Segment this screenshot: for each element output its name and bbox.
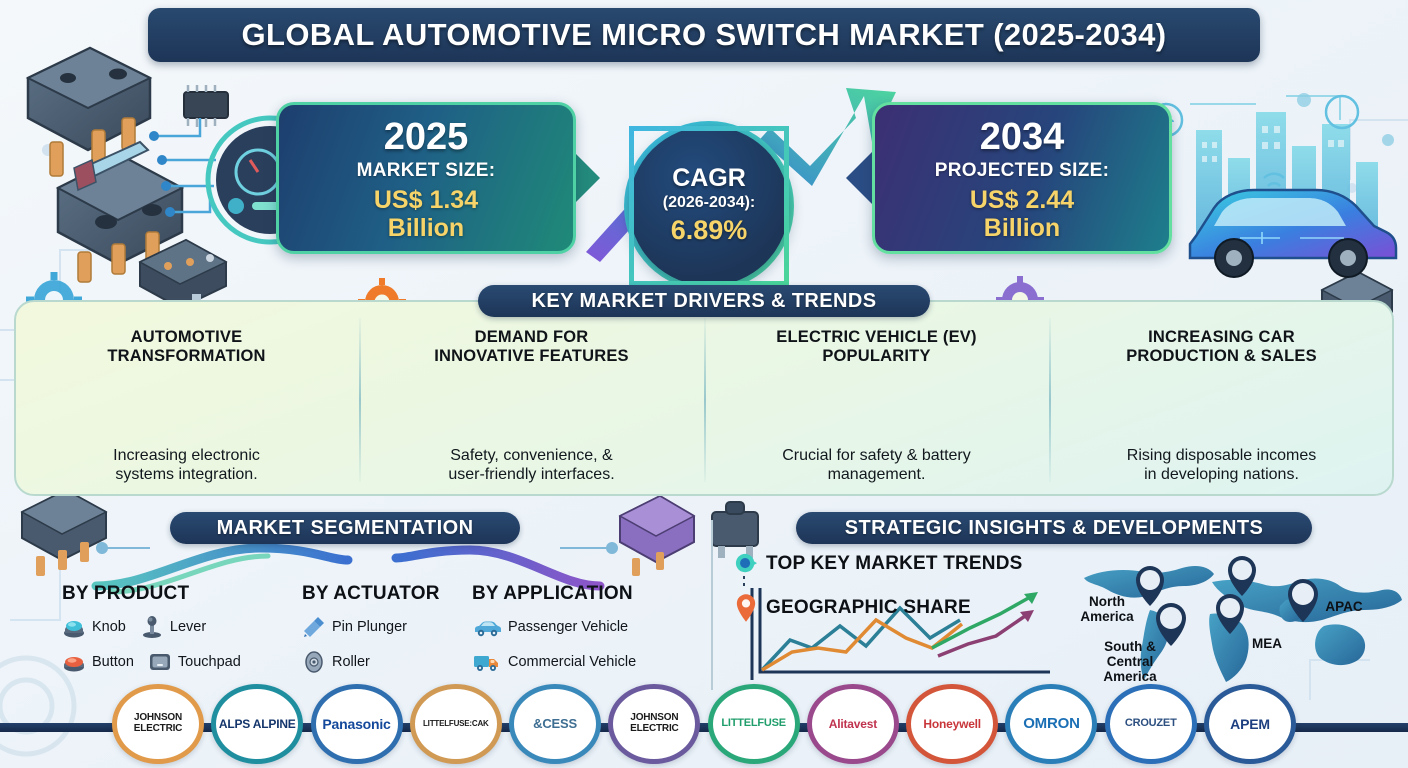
market-segmentation-banner: MARKET SEGMENTATION <box>170 512 520 544</box>
ev-car-illustration <box>1190 190 1396 277</box>
logo-johnson-electric-2[interactable]: JOHNSON ELECTRIC <box>608 684 700 764</box>
driver-desc: Crucial for safety & battery management. <box>782 446 971 488</box>
cagr-label: CAGR <box>672 166 746 191</box>
page-title: GLOBAL AUTOMOTIVE MICRO SWITCH MARKET (2… <box>148 8 1260 62</box>
driver-title: AUTOMOTIVE TRANSFORMATION <box>107 328 265 366</box>
strategic-trends-label: TOP KEY MARKET TRENDS <box>766 553 1023 575</box>
segmentation-item-button[interactable]: Button <box>62 650 134 674</box>
driver-title: DEMAND FOR INNOVATIVE FEATURES <box>434 328 628 366</box>
stat-2025-year: 2025 <box>384 118 469 158</box>
map-label-mea: MEA <box>1244 637 1290 652</box>
lever-icon <box>140 615 164 639</box>
key-drivers-banner-text: KEY MARKET DRIVERS & TRENDS <box>532 290 877 313</box>
segmentation-item-lever[interactable]: Lever <box>140 615 206 639</box>
driver-column-1: DEMAND FOR INNOVATIVE FEATURES Safety, c… <box>359 300 704 496</box>
micro-switch-illustration-1 <box>28 48 150 176</box>
strategic-geo-label: GEOGRAPHIC SHARE <box>766 597 971 619</box>
driver-desc: Safety, convenience, & user-friendly int… <box>448 446 614 488</box>
cagr-badge: CAGR (2026-2034): 6.89% <box>629 126 789 286</box>
logo-littelfuse-1[interactable]: LITTELFUSE:CAK <box>410 684 502 764</box>
stat-2025-value: US$ 1.34 Billion <box>374 186 478 242</box>
driver-column-0: AUTOMOTIVE TRANSFORMATION Increasing ele… <box>14 300 359 496</box>
logo-littelfuse-2[interactable]: LITTELFUSE <box>708 684 800 764</box>
segmentation-item-label: Knob <box>92 619 126 635</box>
roller-icon <box>302 650 326 674</box>
segmentation-row: Button Touchpad <box>62 650 302 674</box>
segmentation-row: Commercial Vehicle <box>472 650 712 674</box>
micro-switch-illustration-5 <box>620 496 694 576</box>
map-label-south-central-america: South & Central America <box>1084 640 1176 685</box>
driver-desc: Increasing electronic systems integratio… <box>113 446 260 488</box>
micro-switch-illustration-4 <box>22 490 106 576</box>
cagr-value: 6.89% <box>671 215 748 246</box>
segmentation-heading: BY APPLICATION <box>472 583 712 605</box>
push-switch-illustration <box>712 502 758 558</box>
map-pin-icon <box>735 593 757 623</box>
segmentation-item-commercial-vehicle[interactable]: Commercial Vehicle <box>472 650 636 674</box>
segmentation-item-knob[interactable]: Knob <box>62 615 126 639</box>
cagr-period: (2026-2034): <box>663 194 756 212</box>
segmentation-item-label: Pin Plunger <box>332 619 407 635</box>
driver-title: INCREASING CAR PRODUCTION & SALES <box>1126 328 1317 366</box>
strategic-insights-banner-text: STRATEGIC INSIGHTS & DEVELOPMENTS <box>845 517 1263 540</box>
truck-icon <box>472 650 502 674</box>
key-drivers-banner: KEY MARKET DRIVERS & TRENDS <box>478 285 930 317</box>
logo-johnson-electric-1[interactable]: JOHNSON ELECTRIC <box>112 684 204 764</box>
stat-arrow-right <box>574 152 600 204</box>
logo-panasonic[interactable]: Panasonic <box>311 684 403 764</box>
key-drivers-columns: AUTOMOTIVE TRANSFORMATION Increasing ele… <box>14 300 1394 496</box>
driver-title: ELECTRIC VEHICLE (EV) POPULARITY <box>776 328 976 366</box>
stat-2034-label: PROJECTED SIZE: <box>935 160 1109 182</box>
segmentation-item-label: Button <box>92 654 134 670</box>
map-pin-europe <box>1228 556 1256 596</box>
infographic-root: EV <box>0 0 1408 768</box>
segmentation-groups: BY PRODUCT Knob <box>62 583 712 674</box>
map-pin-apac <box>1288 579 1318 622</box>
segmentation-group-product: BY PRODUCT Knob <box>62 583 302 674</box>
stat-2025-label: MARKET SIZE: <box>357 160 496 182</box>
segmentation-row: Knob Lever <box>62 615 302 639</box>
segmentation-item-label: Passenger Vehicle <box>508 619 628 635</box>
micro-switch-illustration-2 <box>58 142 182 282</box>
driver-column-3: INCREASING CAR PRODUCTION & SALES Rising… <box>1049 300 1394 496</box>
map-label-north-america: North America <box>1068 595 1146 625</box>
logo-honeywell[interactable]: Honeywell <box>906 684 998 764</box>
map-pin-mea <box>1216 594 1244 634</box>
segmentation-group-actuator: BY ACTUATOR Pin Plunger <box>302 583 472 674</box>
button-icon <box>62 650 86 674</box>
stat-card-2025: 2025 MARKET SIZE: US$ 1.34 Billion <box>276 102 576 254</box>
company-logo-strip: JOHNSON ELECTRIC ALPS ALPINE Panasonic L… <box>0 684 1408 768</box>
segmentation-group-application: BY APPLICATION Passenger Vehicle <box>472 583 712 674</box>
logo-alps-alpine[interactable]: ALPS ALPINE <box>211 684 303 764</box>
segmentation-row: Pin Plunger <box>302 615 472 639</box>
stat-arrow-left <box>846 152 872 204</box>
ic-chip-illustration <box>184 85 228 127</box>
segmentation-heading: BY PRODUCT <box>62 583 302 605</box>
map-label-apac: APAC <box>1316 600 1372 615</box>
segmentation-item-passenger-vehicle[interactable]: Passenger Vehicle <box>472 615 628 639</box>
strategic-item-geographic-share[interactable]: GEOGRAPHIC SHARE <box>735 593 971 623</box>
segmentation-item-touchpad[interactable]: Touchpad <box>148 650 241 674</box>
segmentation-row: Roller <box>302 650 472 674</box>
driver-desc: Rising disposable incomes in developing … <box>1127 446 1316 488</box>
segmentation-item-label: Roller <box>332 654 370 670</box>
strategic-insights-banner: STRATEGIC INSIGHTS & DEVELOPMENTS <box>796 512 1312 544</box>
logo-cess[interactable]: &CESS <box>509 684 601 764</box>
market-segmentation-banner-text: MARKET SEGMENTATION <box>217 517 474 540</box>
segmentation-heading: BY ACTUATOR <box>302 583 472 605</box>
segmentation-item-pin-plunger[interactable]: Pin Plunger <box>302 615 407 639</box>
touchpad-icon <box>148 650 172 674</box>
logo-omron[interactable]: OMRON <box>1005 684 1097 764</box>
location-dot-icon <box>735 553 757 575</box>
pin-plunger-icon <box>302 615 326 639</box>
segmentation-item-roller[interactable]: Roller <box>302 650 370 674</box>
segmentation-item-label: Lever <box>170 619 206 635</box>
stat-2034-value: US$ 2.44 Billion <box>970 186 1074 242</box>
page-title-text: GLOBAL AUTOMOTIVE MICRO SWITCH MARKET (2… <box>241 17 1166 53</box>
passenger-car-icon <box>472 615 502 639</box>
knob-icon <box>62 615 86 639</box>
smart-city-illustration <box>1150 93 1394 250</box>
stat-card-2034: 2034 PROJECTED SIZE: US$ 2.44 Billion <box>872 102 1172 254</box>
logo-apem[interactable]: APEM <box>1204 684 1296 764</box>
logo-crouzet[interactable]: CROUZET <box>1105 684 1197 764</box>
segmentation-item-label: Touchpad <box>178 654 241 670</box>
stat-2034-year: 2034 <box>980 118 1065 158</box>
driver-column-2: ELECTRIC VEHICLE (EV) POPULARITY Crucial… <box>704 300 1049 496</box>
segmentation-row: Passenger Vehicle <box>472 615 712 639</box>
strategic-item-top-trends[interactable]: TOP KEY MARKET TRENDS <box>735 553 1023 575</box>
logo-alitavest[interactable]: Alitavest <box>807 684 899 764</box>
segmentation-item-label: Commercial Vehicle <box>508 654 636 670</box>
